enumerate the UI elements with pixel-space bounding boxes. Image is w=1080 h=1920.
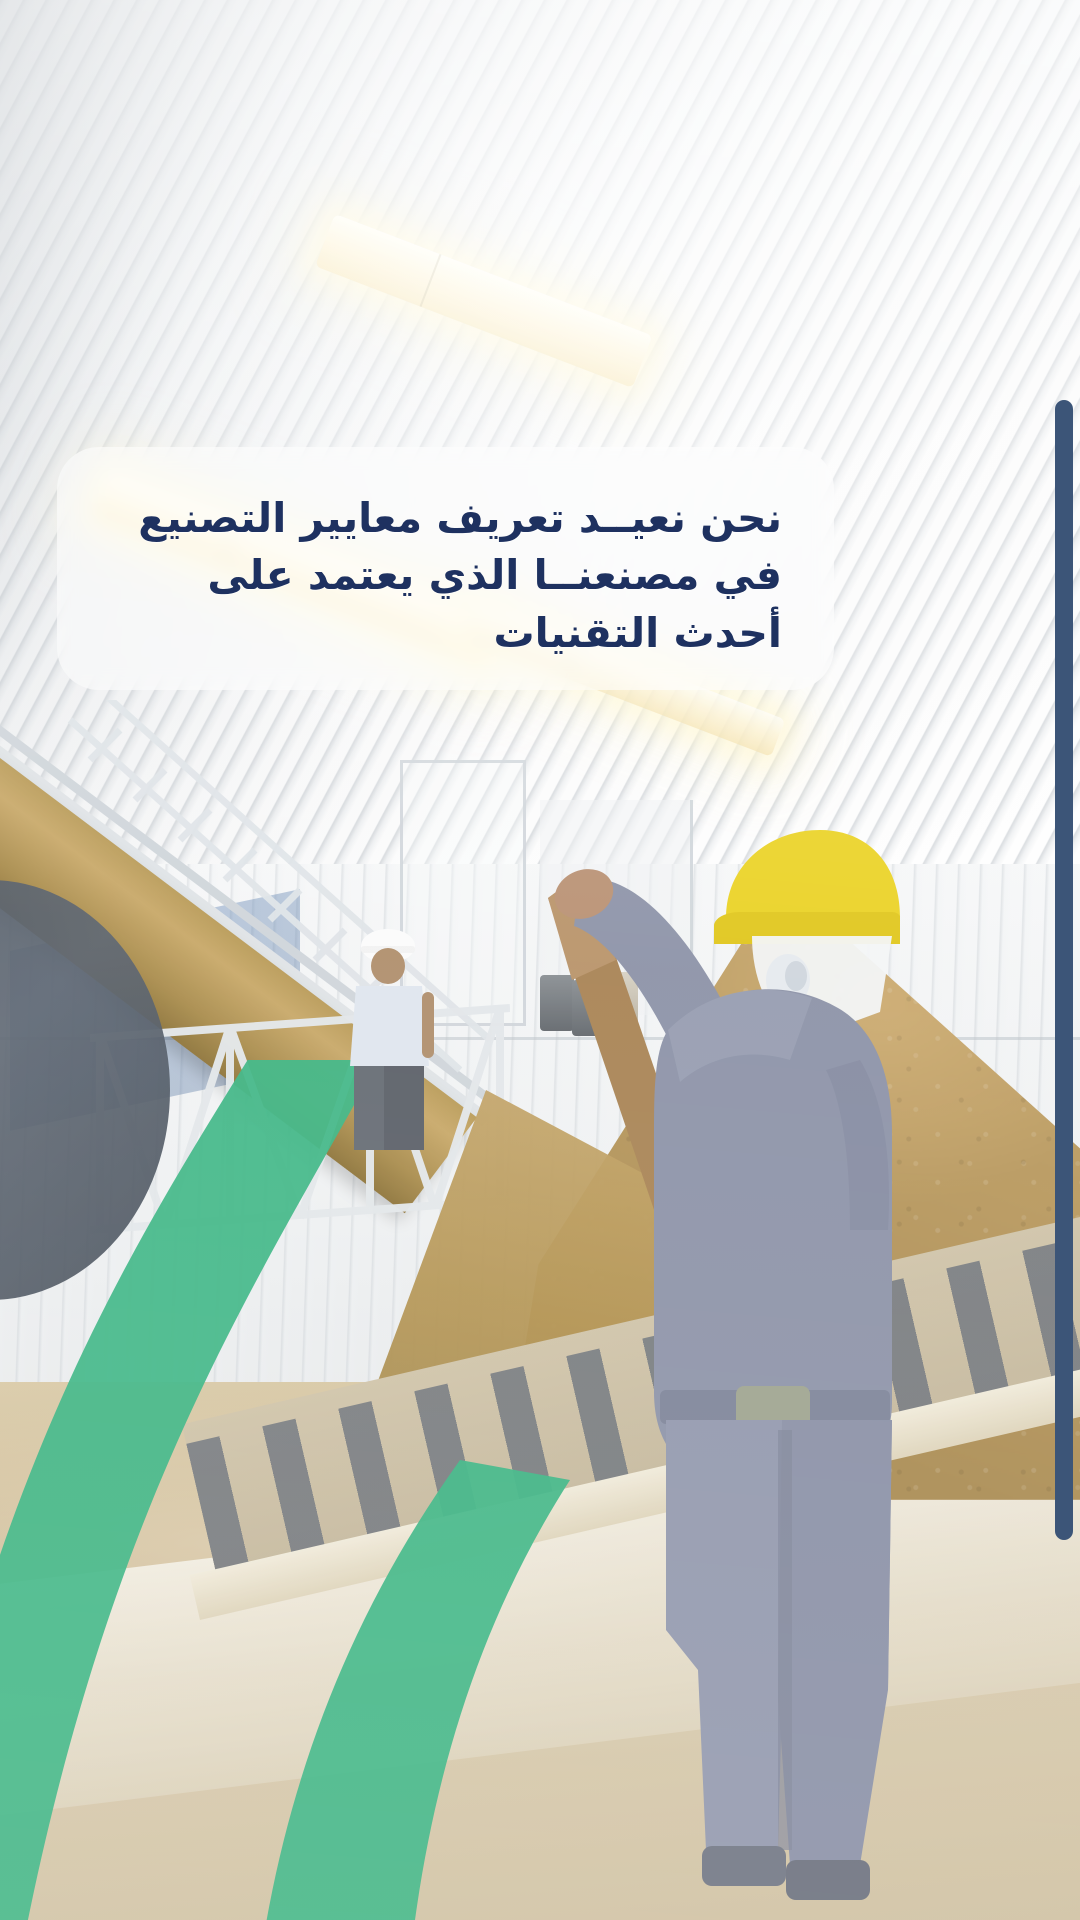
factory-interior-photo xyxy=(0,0,1080,1920)
scrollbar-track[interactable] xyxy=(1055,400,1073,1540)
story-slide: نحن نعيــد تعريف معايير التصنيع في مصنعن… xyxy=(0,0,1080,1920)
background-worker xyxy=(330,920,450,1150)
green-painted-floor-stripes xyxy=(0,1060,580,1920)
caption-text: نحن نعيــد تعريف معايير التصنيع في مصنعن… xyxy=(109,490,782,662)
caption-card: نحن نعيــد تعريف معايير التصنيع في مصنعن… xyxy=(57,447,834,690)
foreground-worker xyxy=(520,730,900,1920)
scrollbar-thumb[interactable] xyxy=(1055,400,1073,1540)
